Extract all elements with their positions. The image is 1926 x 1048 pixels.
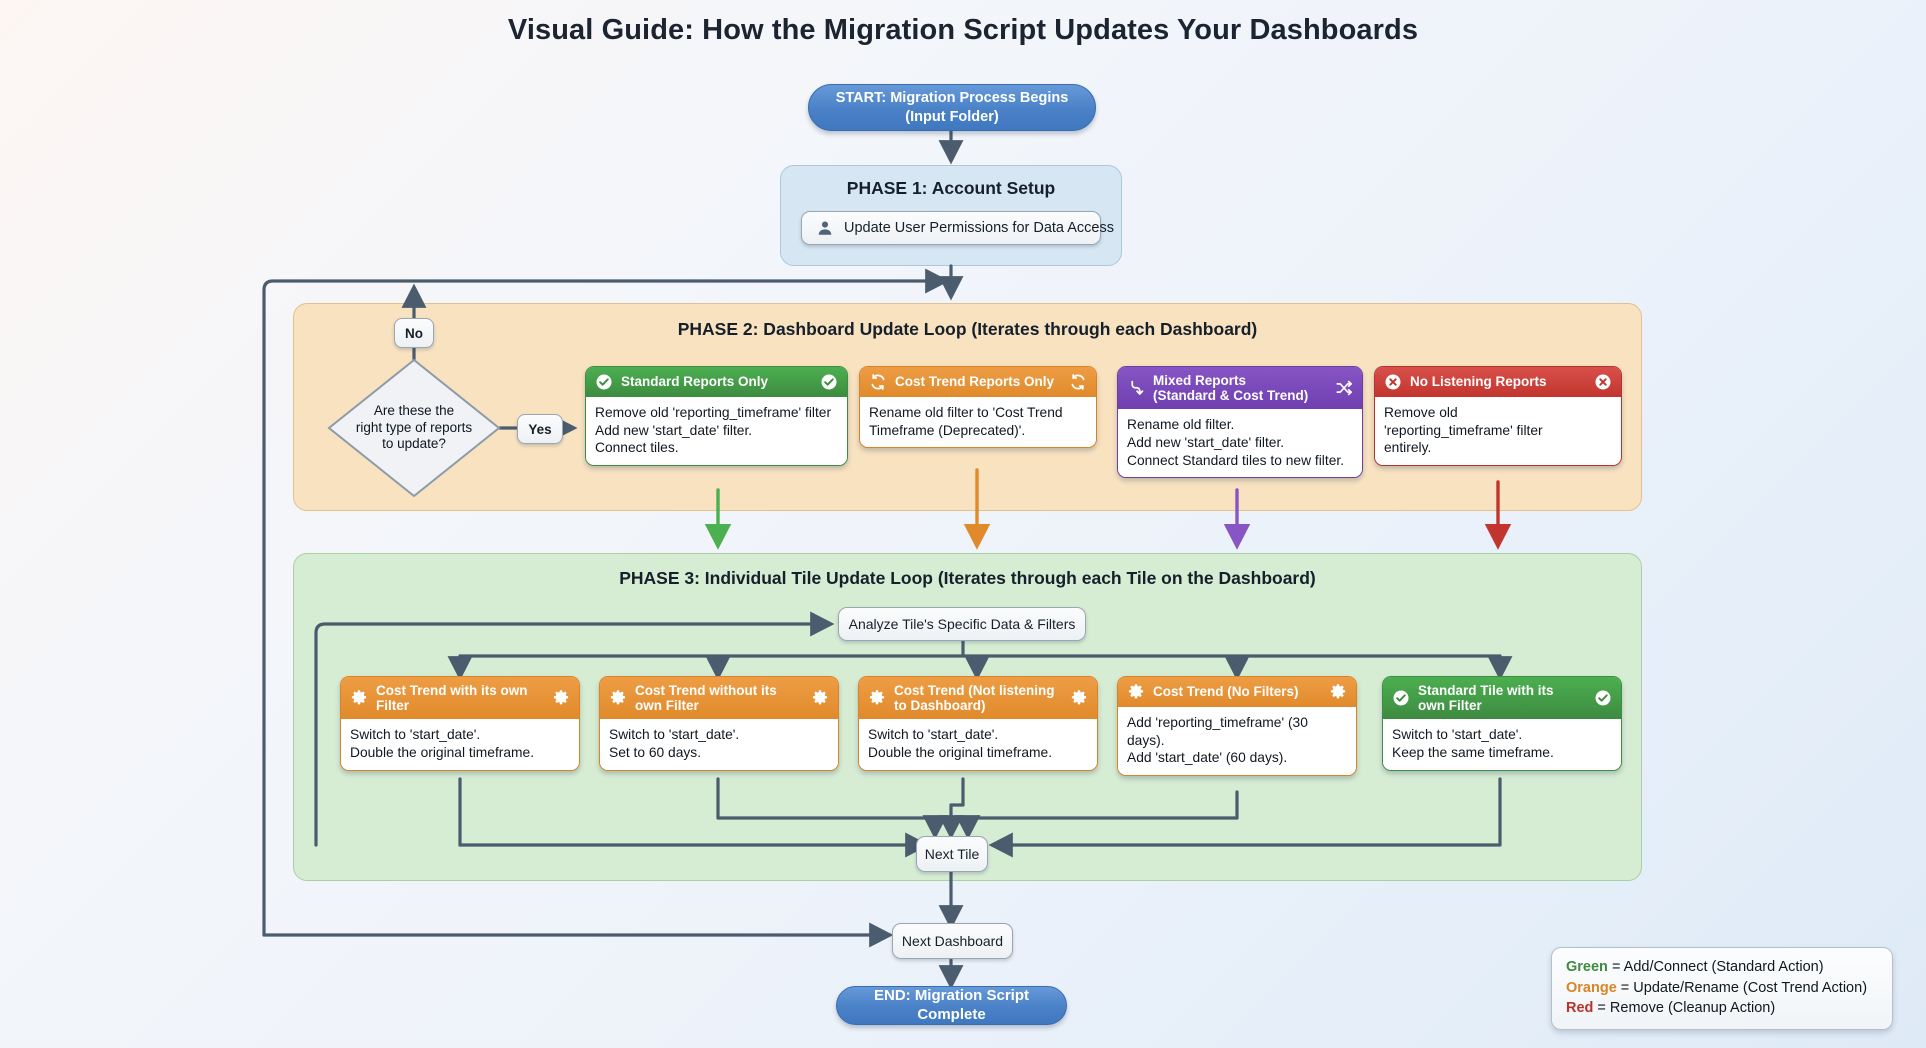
start-node[interactable]: START: Migration Process Begins (Input F… xyxy=(808,84,1096,131)
card-line: Rename old filter to 'Cost Trend xyxy=(869,404,1087,422)
legend-row: Orange = Update/Rename (Cost Trend Actio… xyxy=(1566,978,1878,999)
legend-key-orange: Orange xyxy=(1566,980,1617,996)
branch-yes-text: Yes xyxy=(528,422,551,437)
next-tile-node[interactable]: Next Tile xyxy=(916,836,988,872)
legend-text-orange: = Update/Rename (Cost Trend Action) xyxy=(1617,980,1867,996)
card-line: Switch to 'start_date'. xyxy=(609,726,829,744)
card-line: Switch to 'start_date'. xyxy=(1392,726,1612,744)
phase-3-title: PHASE 3: Individual Tile Update Loop (It… xyxy=(294,568,1641,589)
card-line: Keep the same timeframe. xyxy=(1392,744,1612,762)
card-title-line1: Cost Trend without its xyxy=(635,683,777,698)
card-line: Connect Standard tiles to new filter. xyxy=(1127,452,1353,470)
gear-icon xyxy=(1329,683,1347,701)
check-circle-icon xyxy=(1594,689,1612,707)
card-line: Rename old filter. xyxy=(1127,416,1353,434)
start-node-line2: (Input Folder) xyxy=(905,109,998,125)
phase3-card-standard-tile-own-filter[interactable]: Standard Tile with its own Filter Switch… xyxy=(1382,676,1622,771)
gear-icon xyxy=(350,689,368,707)
branch-label-yes: Yes xyxy=(517,414,563,444)
card-body: Remove old 'reporting_timeframe' filter … xyxy=(586,397,847,465)
card-title-line2: (Standard & Cost Trend) xyxy=(1153,388,1308,403)
phase2-card-cost-trend-reports[interactable]: Cost Trend Reports Only Rename old filte… xyxy=(859,366,1097,448)
card-title: Cost Trend without its own Filter xyxy=(635,683,803,713)
branch-label-no: No xyxy=(394,318,434,348)
card-line: Connect tiles. xyxy=(595,439,838,457)
card-title: Standard Tile with its own Filter xyxy=(1418,683,1586,713)
card-header: Mixed Reports (Standard & Cost Trend) xyxy=(1118,367,1362,409)
phase2-card-mixed-reports[interactable]: Mixed Reports (Standard & Cost Trend) Re… xyxy=(1117,366,1363,478)
card-line: Switch to 'start_date'. xyxy=(868,726,1088,744)
card-header: Cost Trend (No Filters) xyxy=(1118,677,1356,707)
legend-key-green: Green xyxy=(1566,959,1608,975)
phase-1-step-label: Update User Permissions for Data Access xyxy=(844,220,1114,236)
card-line: Add new 'start_date' filter. xyxy=(595,422,838,440)
card-body: Switch to 'start_date'. Double the origi… xyxy=(859,719,1097,769)
phase-1-title: PHASE 1: Account Setup xyxy=(781,178,1121,199)
phase2-card-no-listening-reports[interactable]: No Listening Reports Remove old 'reporti… xyxy=(1374,366,1622,466)
phase2-card-standard-reports[interactable]: Standard Reports Only Remove old 'report… xyxy=(585,366,848,466)
card-title: Cost Trend with its own Filter xyxy=(376,683,544,713)
legend-key-red: Red xyxy=(1566,1000,1593,1016)
card-line: Add 'start_date' (60 days). xyxy=(1127,749,1347,767)
page-title: Visual Guide: How the Migration Script U… xyxy=(0,14,1926,47)
phase3-card-cost-trend-no-filters[interactable]: Cost Trend (No Filters) Add 'reporting_t… xyxy=(1117,676,1357,776)
card-body: Remove old 'reporting_timeframe' filter … xyxy=(1375,397,1621,465)
card-title-line2: own Filter xyxy=(635,698,699,713)
phase3-card-cost-trend-own-filter[interactable]: Cost Trend with its own Filter Switch to… xyxy=(340,676,580,771)
gear-icon xyxy=(1127,683,1145,701)
decision-line3: to update? xyxy=(382,436,446,451)
card-title-line2: to Dashboard) xyxy=(894,698,986,713)
x-circle-icon xyxy=(1384,373,1402,391)
card-title-line1: Cost Trend with its own xyxy=(376,683,528,698)
card-header: Cost Trend (Not listening to Dashboard) xyxy=(859,677,1097,719)
card-title-line1: Mixed Reports xyxy=(1153,373,1246,388)
refresh-icon xyxy=(1069,373,1087,391)
card-header: No Listening Reports xyxy=(1375,367,1621,397)
card-line: Add 'reporting_timeframe' (30 xyxy=(1127,714,1347,732)
check-circle-icon xyxy=(1392,689,1410,707)
shuffle-icon xyxy=(1335,379,1353,397)
card-body: Rename old filter to 'Cost Trend Timefra… xyxy=(860,397,1096,447)
card-line: Remove old xyxy=(1384,404,1612,422)
card-line: 'reporting_timeframe' filter xyxy=(1384,422,1612,440)
card-header: Cost Trend without its own Filter xyxy=(600,677,838,719)
x-circle-icon xyxy=(1594,373,1612,391)
card-title: Cost Trend Reports Only xyxy=(895,374,1061,389)
card-title-line1: Standard Tile with its xyxy=(1418,683,1554,698)
end-node-label: END: Migration Script Complete xyxy=(851,987,1052,1025)
card-line: Double the original timeframe. xyxy=(350,744,570,762)
card-body: Switch to 'start_date'. Keep the same ti… xyxy=(1383,719,1621,769)
card-line: Remove old 'reporting_timeframe' filter xyxy=(595,404,838,422)
card-title: Cost Trend (No Filters) xyxy=(1153,684,1321,699)
gear-icon xyxy=(609,689,627,707)
decision-line1: Are these the xyxy=(374,403,454,418)
phase3-card-cost-trend-no-own-filter[interactable]: Cost Trend without its own Filter Switch… xyxy=(599,676,839,771)
refresh-icon xyxy=(869,373,887,391)
decision-diamond[interactable]: Are these the right type of reports to u… xyxy=(326,357,502,499)
gear-icon xyxy=(811,689,829,707)
phase3-card-cost-trend-not-listening[interactable]: Cost Trend (Not listening to Dashboard) … xyxy=(858,676,1098,771)
legend-text-red: = Remove (Cleanup Action) xyxy=(1593,1000,1775,1016)
user-icon xyxy=(816,219,834,237)
card-body: Rename old filter. Add new 'start_date' … xyxy=(1118,409,1362,477)
legend-row: Red = Remove (Cleanup Action) xyxy=(1566,998,1878,1019)
card-line: Add new 'start_date' filter. xyxy=(1127,434,1353,452)
phase-2-title: PHASE 2: Dashboard Update Loop (Iterates… xyxy=(294,319,1641,340)
card-header: Cost Trend with its own Filter xyxy=(341,677,579,719)
start-node-line1: START: Migration Process Begins xyxy=(836,90,1069,106)
card-header: Standard Tile with its own Filter xyxy=(1383,677,1621,719)
branch-no-text: No xyxy=(405,326,423,341)
end-node[interactable]: END: Migration Script Complete xyxy=(836,986,1067,1025)
flow-connectors xyxy=(0,0,1926,1048)
card-title: Cost Trend (Not listening to Dashboard) xyxy=(894,683,1062,713)
card-title: Mixed Reports (Standard & Cost Trend) xyxy=(1153,373,1327,403)
card-title: No Listening Reports xyxy=(1410,374,1586,389)
card-title-line2: Filter xyxy=(376,698,409,713)
gear-icon xyxy=(1070,689,1088,707)
card-line: entirely. xyxy=(1384,439,1612,457)
next-tile-label: Next Tile xyxy=(925,846,979,862)
card-header: Cost Trend Reports Only xyxy=(860,367,1096,397)
decision-line2: right type of reports xyxy=(356,420,472,435)
gear-icon xyxy=(868,689,886,707)
branch-arrow-icon xyxy=(1127,379,1145,397)
analyze-tile-node[interactable]: Analyze Tile's Specific Data & Filters xyxy=(838,607,1086,641)
card-body: Switch to 'start_date'. Set to 60 days. xyxy=(600,719,838,769)
card-body: Switch to 'start_date'. Double the origi… xyxy=(341,719,579,769)
check-circle-icon xyxy=(820,373,838,391)
next-dashboard-label: Next Dashboard xyxy=(902,933,1003,949)
card-title: Standard Reports Only xyxy=(621,374,812,389)
next-dashboard-node[interactable]: Next Dashboard xyxy=(892,923,1013,959)
analyze-tile-label: Analyze Tile's Specific Data & Filters xyxy=(849,616,1076,632)
legend-row: Green = Add/Connect (Standard Action) xyxy=(1566,957,1878,978)
legend-text-green: = Add/Connect (Standard Action) xyxy=(1608,959,1824,975)
legend: Green = Add/Connect (Standard Action) Or… xyxy=(1551,947,1893,1030)
card-line: Timeframe (Deprecated)'. xyxy=(869,422,1087,440)
check-circle-icon xyxy=(595,373,613,391)
card-line: Switch to 'start_date'. xyxy=(350,726,570,744)
card-line: Double the original timeframe. xyxy=(868,744,1088,762)
card-line: days). xyxy=(1127,732,1347,750)
gear-icon xyxy=(552,689,570,707)
card-line: Set to 60 days. xyxy=(609,744,829,762)
card-title-line2: own Filter xyxy=(1418,698,1482,713)
phase-1-step[interactable]: Update User Permissions for Data Access xyxy=(801,211,1101,245)
card-header: Standard Reports Only xyxy=(586,367,847,397)
card-title-line1: Cost Trend (Not listening xyxy=(894,683,1055,698)
card-body: Add 'reporting_timeframe' (30 days). Add… xyxy=(1118,707,1356,775)
